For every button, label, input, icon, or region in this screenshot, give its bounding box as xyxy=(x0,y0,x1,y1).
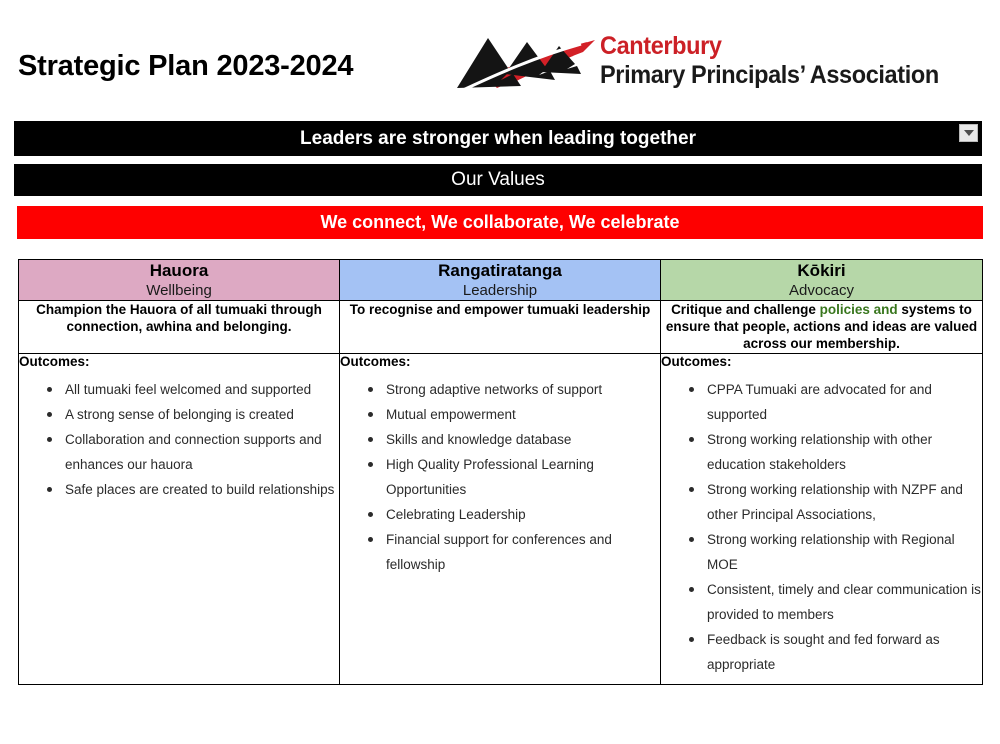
outcome-item: Collaboration and connection supports an… xyxy=(47,427,339,477)
chevron-down-glyph xyxy=(964,130,974,136)
outcomes-label: Outcomes: xyxy=(19,354,339,369)
strategic-plan-table: Hauora Wellbeing Rangatiratanga Leadersh… xyxy=(18,259,983,685)
logo-line-canterbury: Canterbury xyxy=(600,32,924,60)
table-header-row: Hauora Wellbeing Rangatiratanga Leadersh… xyxy=(19,260,983,301)
outcomes-label: Outcomes: xyxy=(340,354,660,369)
column-title: Hauora xyxy=(19,260,339,281)
logo-line-association: Primary Principals’ Association xyxy=(600,60,924,90)
outcome-item: Mutual empowerment xyxy=(368,402,660,427)
table-outcomes-row: Outcomes: All tumuaki feel welcomed and … xyxy=(19,354,983,685)
outcome-item: Celebrating Leadership xyxy=(368,502,660,527)
column-title: Rangatiratanga xyxy=(340,260,660,281)
column-title: Kōkiri xyxy=(661,260,982,281)
canterbury-mountains-mark xyxy=(455,28,605,96)
outcomes-list: Strong adaptive networks of supportMutua… xyxy=(340,377,660,577)
motto-banner: We connect, We collaborate, We celebrate xyxy=(17,206,983,239)
outcome-item: Skills and knowledge database xyxy=(368,427,660,452)
outcomes-list: CPPA Tumuaki are advocated for and suppo… xyxy=(661,377,982,677)
motto-text: We connect, We collaborate, We celebrate xyxy=(320,212,679,233)
outcome-item: Consistent, timely and clear communicati… xyxy=(689,577,982,627)
outcome-item: Strong working relationship with other e… xyxy=(689,427,982,477)
goal-text: To recognise and empower tumuaki leaders… xyxy=(340,301,660,318)
page-title: Strategic Plan 2023-2024 xyxy=(18,50,353,83)
goal-text: Champion the Hauora of all tumuaki throu… xyxy=(19,301,339,335)
tagline-text: Leaders are stronger when leading togeth… xyxy=(300,128,696,150)
outcome-item: Safe places are created to build relatio… xyxy=(47,477,339,502)
our-values-banner: Our Values xyxy=(14,164,982,196)
outcomes-list: All tumuaki feel welcomed and supportedA… xyxy=(19,377,339,502)
outcomes-cell-kokiri: Outcomes: CPPA Tumuaki are advocated for… xyxy=(661,354,983,685)
table-goal-row: Champion the Hauora of all tumuaki throu… xyxy=(19,301,983,354)
outcomes-label: Outcomes: xyxy=(661,354,982,369)
goal-cell-rangatiratanga: To recognise and empower tumuaki leaders… xyxy=(340,301,661,354)
outcome-item: A strong sense of belonging is created xyxy=(47,402,339,427)
our-values-text: Our Values xyxy=(451,169,545,191)
outcome-item: Financial support for conferences and fe… xyxy=(368,527,660,577)
goal-cell-hauora: Champion the Hauora of all tumuaki throu… xyxy=(19,301,340,354)
chevron-down-icon[interactable] xyxy=(959,124,978,142)
goal-text-before: Critique and challenge xyxy=(671,302,820,317)
organization-logo: Canterbury Primary Principals’ Associati… xyxy=(455,28,945,98)
outcome-item: Strong adaptive networks of support xyxy=(368,377,660,402)
outcome-item: CPPA Tumuaki are advocated for and suppo… xyxy=(689,377,982,427)
column-subtitle: Leadership xyxy=(340,281,660,300)
outcomes-cell-hauora: Outcomes: All tumuaki feel welcomed and … xyxy=(19,354,340,685)
column-header-rangatiratanga: Rangatiratanga Leadership xyxy=(340,260,661,301)
column-header-kokiri: Kōkiri Advocacy xyxy=(661,260,983,301)
column-header-hauora: Hauora Wellbeing xyxy=(19,260,340,301)
goal-text: Critique and challenge policies and syst… xyxy=(661,301,982,352)
outcome-item: Strong working relationship with NZPF an… xyxy=(689,477,982,527)
logo-wordmark: Canterbury Primary Principals’ Associati… xyxy=(600,32,945,96)
outcome-item: High Quality Professional Learning Oppor… xyxy=(368,452,660,502)
goal-cell-kokiri: Critique and challenge policies and syst… xyxy=(661,301,983,354)
tagline-banner: Leaders are stronger when leading togeth… xyxy=(14,121,982,156)
column-subtitle: Wellbeing xyxy=(19,281,339,300)
column-subtitle: Advocacy xyxy=(661,281,982,300)
outcome-item: All tumuaki feel welcomed and supported xyxy=(47,377,339,402)
goal-text-highlight: policies and xyxy=(820,302,898,317)
outcomes-cell-rangatiratanga: Outcomes: Strong adaptive networks of su… xyxy=(340,354,661,685)
outcome-item: Strong working relationship with Regiona… xyxy=(689,527,982,577)
outcome-item: Feedback is sought and fed forward as ap… xyxy=(689,627,982,677)
document-header: Strategic Plan 2023-2024 Canterbury Prim… xyxy=(0,0,1000,112)
